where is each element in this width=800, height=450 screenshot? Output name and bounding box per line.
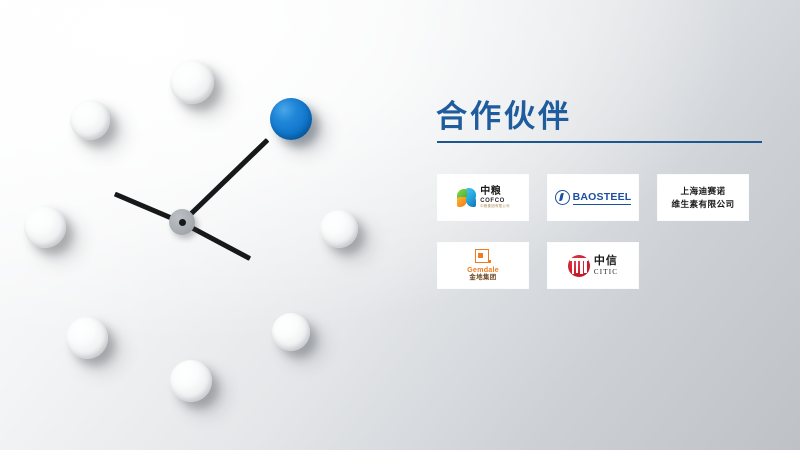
gemdale-name-cn: 金地集团 bbox=[467, 275, 499, 281]
baosteel-logo: BAOSTEEL bbox=[555, 190, 632, 205]
clock-marker bbox=[24, 206, 66, 248]
citic-name-cn: 中信 bbox=[594, 256, 618, 267]
partner-card-gemdale[interactable]: Gemdale金地集团 bbox=[438, 243, 528, 288]
citic-name-en: CITIC bbox=[594, 269, 618, 276]
clock-marker bbox=[66, 317, 108, 359]
disano-logo: 上海迪赛诺维生素有限公司 bbox=[672, 185, 735, 210]
wall-clock-image bbox=[0, 0, 400, 450]
cofco-name-sub: 中粮集团有限公司 bbox=[480, 205, 510, 208]
gemdale-square-icon bbox=[475, 249, 491, 264]
cofco-name-en: COFCO bbox=[480, 198, 510, 204]
slide-canvas: 合作伙伴 中粮COFCO中粮集团有限公司BAOSTEEL上海迪赛诺维生素有限公司… bbox=[0, 0, 800, 450]
cofco-cube-icon bbox=[456, 187, 477, 208]
citic-logo: 中信CITIC bbox=[568, 255, 618, 277]
clock-marker bbox=[170, 360, 212, 402]
citic-emblem-icon bbox=[568, 255, 590, 277]
disano-name-line2: 维生素有限公司 bbox=[672, 198, 735, 210]
partner-card-disano[interactable]: 上海迪赛诺维生素有限公司 bbox=[658, 175, 748, 220]
clock-marker bbox=[272, 313, 310, 351]
partner-logo-grid: 中粮COFCO中粮集团有限公司BAOSTEEL上海迪赛诺维生素有限公司Gemda… bbox=[438, 175, 782, 288]
partner-card-cofco[interactable]: 中粮COFCO中粮集团有限公司 bbox=[438, 175, 528, 220]
clock-center-pin bbox=[179, 219, 186, 226]
baosteel-emblem-icon bbox=[555, 190, 570, 205]
page-title: 合作伙伴 bbox=[436, 99, 572, 135]
clock-marker bbox=[170, 60, 214, 104]
disano-name-line1: 上海迪赛诺 bbox=[672, 185, 735, 197]
clock-marker bbox=[70, 100, 110, 140]
clock-marker bbox=[320, 210, 358, 248]
gemdale-logo: Gemdale金地集团 bbox=[467, 249, 499, 282]
clock-marker-highlight bbox=[270, 98, 312, 140]
gemdale-name-en: Gemdale bbox=[467, 266, 499, 273]
baosteel-name-en: BAOSTEEL bbox=[573, 191, 632, 205]
cofco-logo: 中粮COFCO中粮集团有限公司 bbox=[456, 187, 510, 209]
content-panel: 合作伙伴 中粮COFCO中粮集团有限公司BAOSTEEL上海迪赛诺维生素有限公司… bbox=[400, 0, 800, 450]
partner-row: 中粮COFCO中粮集团有限公司BAOSTEEL上海迪赛诺维生素有限公司 bbox=[438, 175, 782, 220]
partner-card-baosteel[interactable]: BAOSTEEL bbox=[548, 175, 638, 220]
cofco-name-cn: 中粮 bbox=[480, 187, 510, 197]
title-underline bbox=[437, 141, 762, 143]
partner-card-citic[interactable]: 中信CITIC bbox=[548, 243, 638, 288]
partner-row: Gemdale金地集团中信CITIC bbox=[438, 243, 782, 288]
